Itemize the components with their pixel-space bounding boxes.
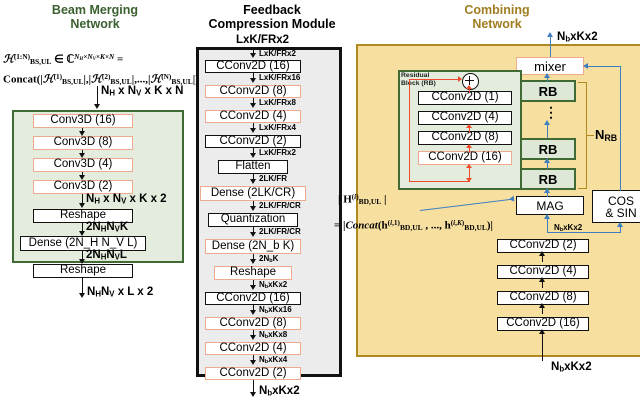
rb-block-cconv2d-16[interactable]: CConv2D (16) <box>418 151 512 165</box>
rb-block-cconv2d-1[interactable]: CConv2D (1) <box>418 91 512 105</box>
bm-label-6: Reshape <box>60 265 106 277</box>
fc-edge-label-4: LxK/FRx2 <box>259 149 296 157</box>
bm-input-label: NH x NV x K x N <box>101 86 183 98</box>
bm-edge-label-1: 2NHNVK <box>86 222 128 234</box>
cn-rb-top-arrow <box>544 73 550 78</box>
fc-label-2: CConv2D (4) <box>219 111 286 123</box>
fc-output-arrow <box>250 392 256 397</box>
cn-eq-to-mag-arrow <box>509 196 515 203</box>
fc-arrow-2 <box>250 103 256 108</box>
fc-block-cconv2d-16b[interactable]: CConv2D (16) <box>205 292 301 305</box>
bm-edge-label-0: NH x NV x K x 2 <box>86 194 167 206</box>
fc-label-7: Dense (2N_b K) <box>212 241 294 253</box>
fc-arrow-12 <box>250 360 256 365</box>
fc-label-3: CConv2D (2) <box>219 136 286 148</box>
fc-output-label: NbxKx2 <box>259 386 300 398</box>
bm-block-conv3d-2[interactable]: Conv3D (2) <box>33 180 133 194</box>
fc-block-reshape[interactable]: Reshape <box>214 266 292 280</box>
fc-arrow-9 <box>250 285 256 290</box>
fc-label-10: CConv2D (8) <box>219 318 286 330</box>
rb-label-1: CConv2D (4) <box>431 112 498 124</box>
cn-rb-mid[interactable]: RB <box>520 138 576 160</box>
bm-edge-label-2: 2NHNVL <box>86 250 127 262</box>
bm-label-0: Conv3D (16) <box>50 115 115 127</box>
rb-caption-1: Residual <box>401 72 429 79</box>
fc-arrow-1 <box>250 78 256 83</box>
fc-edge-label-0: LxK/FRx2 <box>259 50 296 58</box>
cn-rb-label-2: RB <box>539 173 558 186</box>
combining-equation-line2: = |Concat(h(i,1)BD,UL , ..., h(i,K)BD,UL… <box>334 216 493 235</box>
fc-block-cconv2d-8b[interactable]: CConv2D (8) <box>205 317 301 330</box>
bm-input-arrow <box>94 104 100 109</box>
bm-arrow-3 <box>79 203 85 208</box>
bm-input-line <box>97 86 98 106</box>
fc-label-8: Reshape <box>230 267 276 279</box>
bm-block-conv3d-4[interactable]: Conv3D (4) <box>33 158 133 172</box>
rb-skip-left <box>409 79 410 181</box>
bm-output-label: NHNV x L x 2 <box>87 287 153 299</box>
cn-rb-vertical-dots: ⋮ <box>544 104 558 121</box>
fc-arrow-5 <box>250 179 256 184</box>
fc-edge-label-11: NbxKx8 <box>259 331 287 341</box>
bm-block-conv3d-16[interactable]: Conv3D (16) <box>33 114 133 128</box>
fc-edge-label-10: NbxKx16 <box>259 306 292 316</box>
fc-label-0: CConv2D (16) <box>216 61 290 73</box>
fc-edge-label-6: 2LK/FR/CR <box>259 202 301 210</box>
cn-mag-edge-label: NbxKx2 <box>554 224 582 234</box>
cn-cos-sin-block[interactable]: COS & SIN <box>592 190 640 223</box>
cn-rb-top[interactable]: RB <box>520 80 576 102</box>
fc-label-5: Dense (2LK/CR) <box>211 188 295 200</box>
bm-block-dense[interactable]: Dense (2N_H N_V L) <box>20 236 146 251</box>
fc-block-cconv2d-16a[interactable]: CConv2D (16) <box>205 60 301 73</box>
bm-label-2: Conv3D (4) <box>54 159 113 171</box>
cn-cossin-feedback-arrow <box>583 63 588 69</box>
fc-block-quantization[interactable]: Quantization <box>208 213 298 227</box>
cn-input-arrow <box>539 329 545 334</box>
beam-merging-equation-line1: ℋ(1:N)BS,UL ∈ ℂNH×NV×K×N = <box>3 50 123 69</box>
cn-rb-bot-arrow <box>544 158 550 163</box>
cn-split-mag-arrow <box>544 214 550 219</box>
feedback-title-line2: Compression Module <box>192 17 352 31</box>
beam-merging-title-line2: Network <box>10 17 180 31</box>
fc-edge-label-8: 2NbK <box>259 255 278 265</box>
fc-edge-label-1: LxK/FRx16 <box>259 74 300 82</box>
rb-flow-arrow-0 <box>466 85 472 89</box>
rb-label-0: CConv2D (1) <box>431 92 498 104</box>
cn-mag-arrow <box>544 188 550 193</box>
cn-rb-mid-arrow <box>544 120 550 125</box>
fc-block-cconv2d-4b[interactable]: CConv2D (4) <box>205 342 301 355</box>
fc-label-12: CConv2D (2) <box>219 368 286 380</box>
fc-edge-label-3: LxK/FRx4 <box>259 124 296 132</box>
rb-skip-arrow <box>458 76 462 82</box>
combining-equation-line1: | H(i)BD,UL | <box>338 190 386 209</box>
rb-flow-arrow-1 <box>466 124 472 128</box>
cn-enc-arrow-1 <box>539 277 545 282</box>
fc-arrow-7 <box>250 232 256 237</box>
fc-edge-label-7: 2LK/FR/CR <box>259 228 301 236</box>
cn-mixer-label: mixer <box>534 60 566 73</box>
fc-arrow-8 <box>250 259 256 264</box>
fc-block-cconv2d-2a[interactable]: CConv2D (2) <box>205 135 301 148</box>
cn-mag-label: MAG <box>536 200 563 212</box>
fc-block-cconv2d-8a[interactable]: CConv2D (8) <box>205 85 301 98</box>
beam-merging-title: Beam Merging Network <box>10 3 180 31</box>
cn-cossin-feedback-line <box>620 66 621 191</box>
combining-title-line2: Network <box>392 17 602 31</box>
rb-block-cconv2d-4[interactable]: CConv2D (4) <box>418 111 512 125</box>
rb-label-3: CConv2D (16) <box>428 152 502 164</box>
cn-input-label: NbxKx2 <box>551 362 592 374</box>
bm-label-5: Dense (2N_H N_V L) <box>29 238 138 250</box>
fc-block-cconv2d-2b[interactable]: CConv2D (2) <box>205 367 301 380</box>
fc-block-cconv2d-4a[interactable]: CConv2D (4) <box>205 110 301 123</box>
cn-cossin-feedback-h <box>588 66 621 67</box>
fc-label-1: CConv2D (8) <box>219 86 286 98</box>
cn-mixer-block[interactable]: mixer <box>516 57 584 75</box>
cn-sin-label: & SIN <box>605 207 636 219</box>
cn-nrb-label: NRB <box>595 128 617 143</box>
cn-brace-tick <box>586 135 594 136</box>
feedback-compression-title: Feedback Compression Module <box>192 3 352 31</box>
cn-split-cossin-arrow <box>617 222 623 227</box>
rb-skip-bottom <box>409 181 470 182</box>
cn-input-line <box>542 331 543 361</box>
beam-merging-title-line1: Beam Merging <box>10 3 180 17</box>
rb-flow-arrow-2 <box>466 144 472 148</box>
cn-brace-bottom <box>578 188 587 189</box>
cn-enc-arrow-2 <box>539 303 545 308</box>
cn-output-label: NbxKx2 <box>557 32 598 44</box>
cn-rb-label-0: RB <box>539 85 558 98</box>
bm-label-3: Conv3D (2) <box>54 181 113 193</box>
bm-label-1: Conv3D (8) <box>54 137 113 149</box>
fc-label-11: CConv2D (4) <box>219 343 286 355</box>
fc-label-6: Quantization <box>221 214 286 226</box>
bm-output-arrow <box>79 293 85 298</box>
fc-edge-label-2: LxK/FRx8 <box>259 99 296 107</box>
fc-arrow-4 <box>250 153 256 158</box>
fc-arrow-3 <box>250 128 256 133</box>
cn-cos-label: COS <box>608 195 634 207</box>
rb-block-cconv2d-8[interactable]: CConv2D (8) <box>418 131 512 145</box>
combining-network-title: Combining Network <box>392 3 602 31</box>
fc-input-arrow <box>250 53 256 58</box>
fc-arrow-6 <box>250 206 256 211</box>
bm-block-reshape-2[interactable]: Reshape <box>33 264 133 278</box>
fc-block-dense-2[interactable]: Dense (2N_b K) <box>205 239 301 254</box>
bm-block-conv3d-8[interactable]: Conv3D (8) <box>33 136 133 150</box>
fc-label-9: CConv2D (16) <box>216 293 290 305</box>
fc-edge-label-12: NbxKx4 <box>259 356 287 366</box>
rb-label-2: CConv2D (8) <box>431 132 498 144</box>
rb-caption-2: Block (RB) <box>401 80 436 87</box>
fc-edge-label-9: NbxKx2 <box>259 281 287 291</box>
fc-block-flatten[interactable]: Flatten <box>218 160 288 174</box>
bm-block-reshape-1[interactable]: Reshape <box>33 209 133 223</box>
fc-label-4: Flatten <box>235 161 270 173</box>
cn-rb-bot[interactable]: RB <box>520 168 576 190</box>
residual-block-detail-panel <box>398 70 522 190</box>
figure-root: Beam Merging Network Feedback Compressio… <box>0 0 640 403</box>
fc-block-dense-1[interactable]: Dense (2LK/CR) <box>200 186 306 201</box>
rb-skip-top <box>409 79 461 80</box>
fc-arrow-11 <box>250 335 256 340</box>
fc-arrow-10 <box>250 310 256 315</box>
cn-enc-arrow-0 <box>539 251 545 256</box>
fc-edge-label-5: 2LK/FR <box>259 175 287 183</box>
cn-output-arrow <box>547 32 553 37</box>
fc-input-label: LxK/FRx2 <box>236 35 289 47</box>
cn-rb-label-1: RB <box>539 143 558 156</box>
feedback-title-line1: Feedback <box>192 3 352 17</box>
cn-mag-block[interactable]: MAG <box>516 196 584 215</box>
combining-title-line1: Combining <box>392 3 602 17</box>
